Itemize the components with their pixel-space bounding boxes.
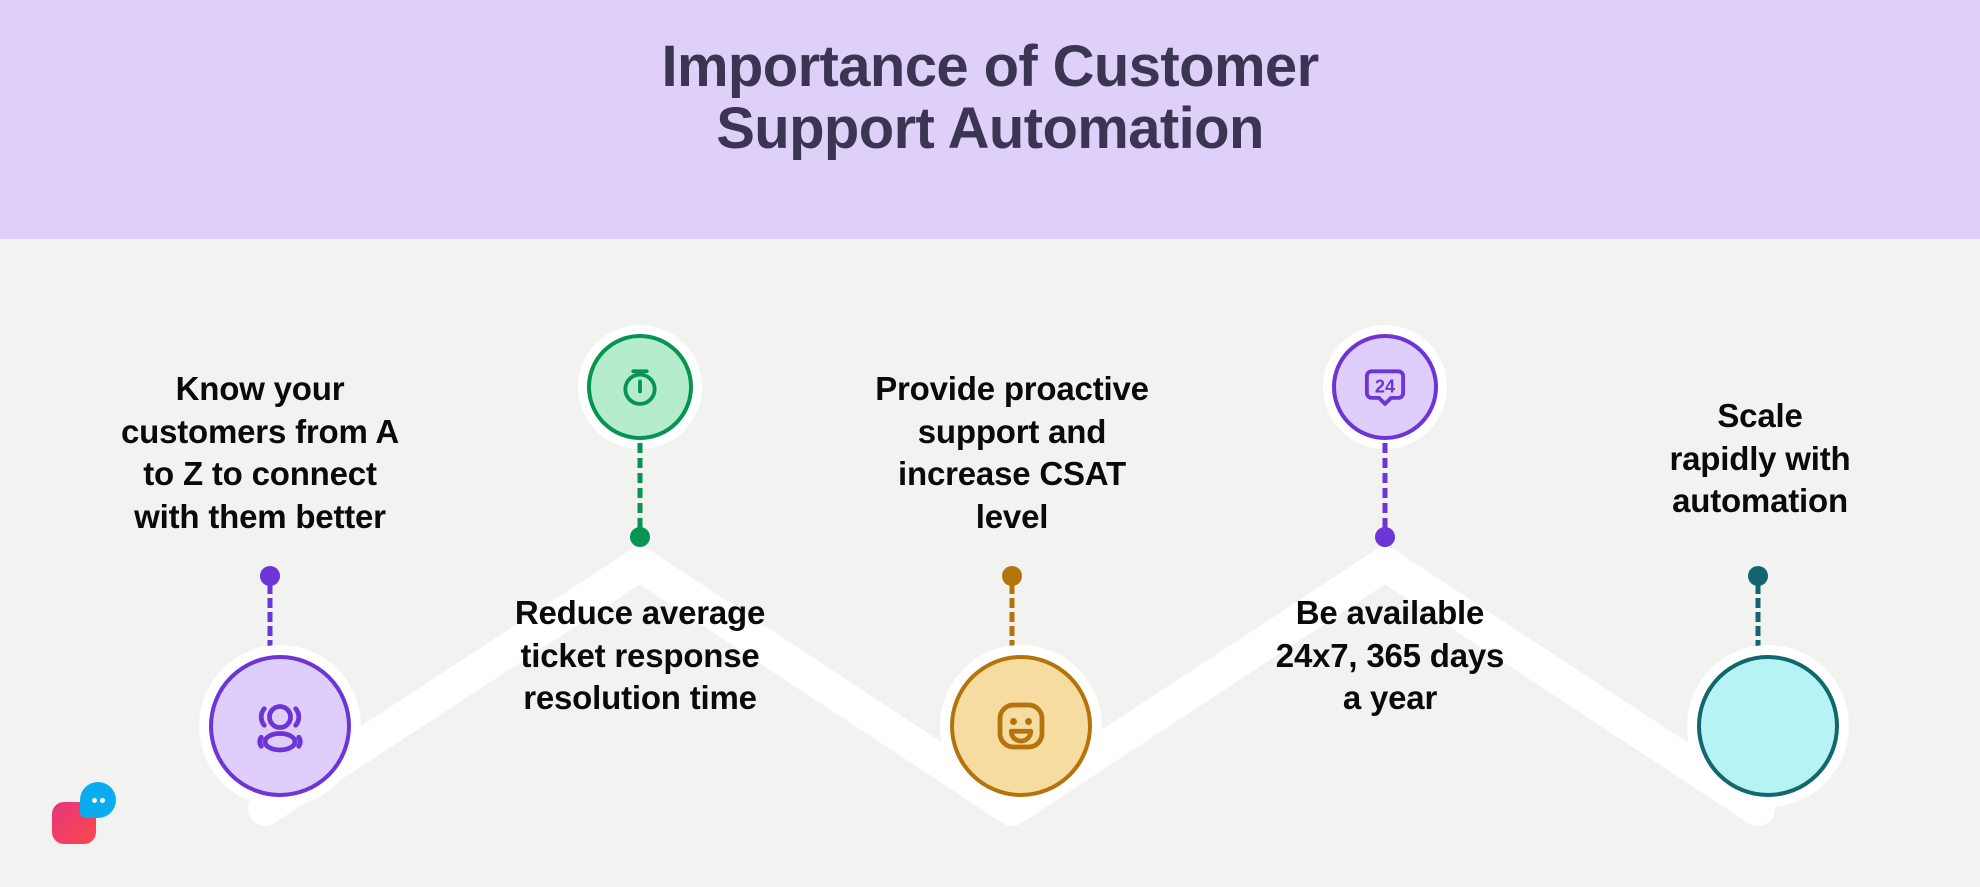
stem-dot-1 [260, 566, 280, 586]
caption-know-your-customers: Know your customers from A to Z to conne… [75, 368, 445, 538]
chat-24-icon: 24 [1356, 358, 1414, 416]
caption-available-24x7: Be available 24x7, 365 days a year [1200, 592, 1580, 720]
node-scale-rapidly[interactable] [1697, 655, 1839, 797]
stem-dot-2 [630, 527, 650, 547]
page-title: Importance of Customer Support Automatio… [0, 36, 1980, 160]
node-proactive-support[interactable] [950, 655, 1092, 797]
stem-line-4 [1383, 443, 1388, 528]
caption-proactive-support: Provide proactive support and increase C… [827, 368, 1197, 538]
node-available-24x7[interactable]: 24 [1332, 334, 1438, 440]
infographic-canvas: Importance of Customer Support Automatio… [0, 0, 1980, 887]
logo-chat-bubble-icon [80, 782, 116, 818]
chat-logo[interactable] [52, 782, 116, 840]
stem-dot-5 [1748, 566, 1768, 586]
caption-scale-rapidly: Scale rapidly with automation [1570, 395, 1950, 523]
svg-text:24: 24 [1375, 376, 1395, 396]
logo-bubble-dot [100, 798, 105, 803]
stem-dot-4 [1375, 527, 1395, 547]
header-band: Importance of Customer Support Automatio… [0, 0, 1980, 239]
logo-bubble-dot [92, 798, 97, 803]
caption-reduce-response-time: Reduce average ticket response resolutio… [450, 592, 830, 720]
stem-dot-3 [1002, 566, 1022, 586]
robot-face-icon [985, 690, 1057, 762]
node-know-your-customers[interactable] [209, 655, 351, 797]
users-icon [244, 690, 316, 762]
stem-node-2 [610, 443, 670, 553]
stopwatch-icon [613, 360, 667, 414]
stem-line-2 [638, 443, 643, 528]
node-reduce-response-time[interactable] [587, 334, 693, 440]
stem-node-4 [1355, 443, 1415, 553]
